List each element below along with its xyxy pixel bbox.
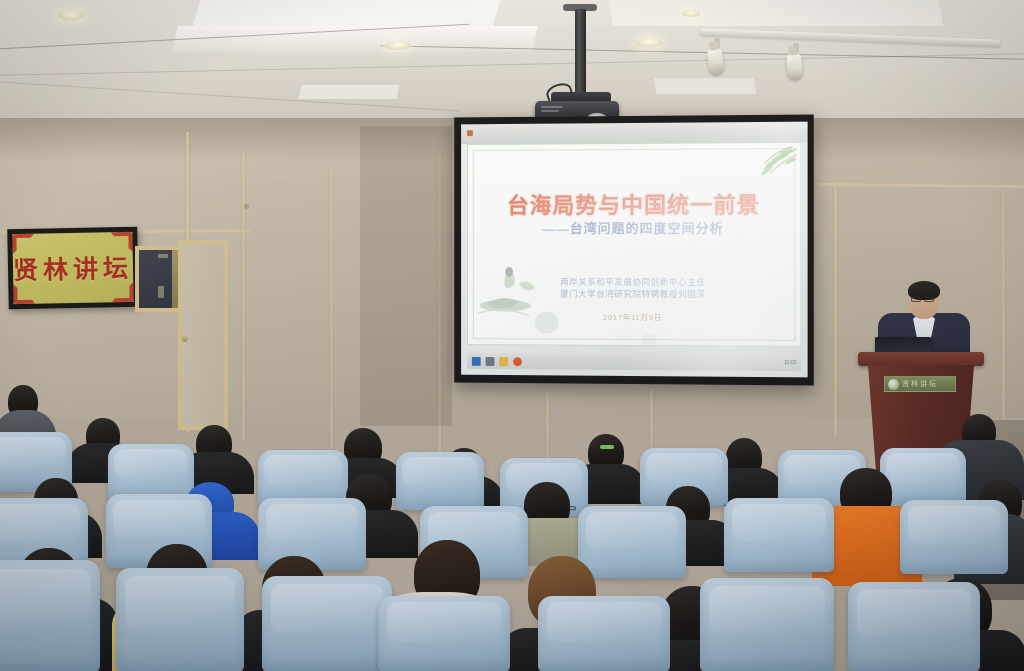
podium-plaque: 贤林讲坛: [884, 376, 956, 392]
downlight: [636, 38, 662, 47]
podium-plaque-text: 贤林讲坛: [902, 379, 938, 389]
bamboo-ink-icon: [733, 145, 798, 192]
track-spotlight: [707, 47, 725, 74]
slide-decor-circle: [641, 334, 657, 347]
explorer-icon[interactable]: [486, 357, 495, 366]
seat: [538, 596, 670, 671]
university-logo-icon: [888, 379, 899, 390]
podium-top: [858, 352, 984, 366]
wall-panel-seam: [546, 392, 549, 464]
speaker-glasses: [911, 297, 921, 302]
seat: [378, 596, 510, 671]
seat: [700, 578, 834, 671]
wall-fixture-dot: [244, 204, 249, 209]
seat: [116, 568, 244, 671]
track-spotlight: [786, 53, 803, 80]
downlight: [385, 41, 411, 50]
slide-presenter-info: 两岸关系和平发展协同创新中心主任 厦门大学台湾研究院特聘教授刘国深: [468, 276, 801, 301]
wall-panel-seam: [1002, 190, 1005, 420]
start-icon[interactable]: [472, 356, 481, 365]
wall-panel-seam: [330, 168, 333, 448]
plaque-corner-ornament: [12, 234, 34, 256]
ceiling-recess-panel-right: [607, 0, 943, 26]
door-knob[interactable]: [182, 335, 188, 342]
seat: [578, 506, 686, 578]
seat: [262, 576, 392, 671]
seat: [724, 498, 834, 572]
folder-icon[interactable]: [499, 357, 508, 366]
presentation-slide: 台海局势与中国统一前景 ——台湾问题的四度空间分析 两岸关系和平发展协同创新中心…: [467, 142, 802, 347]
wall-panel-seam: [834, 186, 837, 436]
plaque-corner-ornament: [110, 232, 132, 254]
projector-vent: [541, 106, 563, 108]
taskbar-clock: 11:02: [784, 360, 796, 366]
plaque-corner-ornament: [13, 282, 35, 304]
seat: [0, 560, 100, 671]
app-icon: [467, 130, 473, 136]
speaker-glasses: [924, 297, 934, 302]
laptop-lid: [875, 337, 931, 351]
ceiling-diffuser-panel: [299, 85, 399, 99]
desktop-title-bar: [461, 122, 808, 145]
slide-title: 台海局势与中国统一前景: [468, 187, 801, 220]
seat: [880, 448, 966, 506]
projector-vent: [541, 110, 559, 112]
downlight: [58, 11, 84, 20]
slide-subtitle: ——台湾问题的四度空间分析: [468, 218, 801, 237]
wall-panel-seam: [242, 150, 245, 440]
downlight: [682, 10, 700, 17]
plaque-corner-ornament: [111, 280, 133, 302]
ceiling-diffuser-panel: [654, 78, 756, 94]
seat: [258, 498, 366, 570]
window-marking: [158, 286, 164, 298]
wall-shadow-area: [360, 126, 452, 426]
plaque-inner: 贤林讲坛: [12, 232, 133, 304]
seat: [396, 452, 484, 510]
presenter-line-2: 厦门大学台湾研究院特聘教授刘国深: [468, 288, 801, 301]
seat: [848, 582, 980, 671]
browser-icon[interactable]: [513, 357, 522, 366]
windows-taskbar[interactable]: 11:02: [467, 353, 802, 371]
screen-surface: 台海局势与中国统一前景 ——台湾问题的四度空间分析 两岸关系和平发展协同创新中心…: [461, 122, 808, 378]
wall-plaque: 贤林讲坛: [7, 227, 139, 309]
presenter-line-1: 两岸关系和平发展协同创新中心主任: [468, 276, 801, 289]
projection-screen: 台海局势与中国统一前景 ——台湾问题的四度空间分析 两岸关系和平发展协同创新中心…: [454, 114, 813, 385]
projector-pole: [575, 9, 586, 95]
window-marking: [158, 254, 168, 258]
wall-panel-seam: [650, 388, 653, 456]
lecture-hall-photo: 贤林讲坛: [0, 0, 1024, 671]
hair-tie: [600, 445, 614, 449]
slide-date: 2017年11月9日: [468, 311, 801, 323]
seat: [900, 500, 1008, 574]
